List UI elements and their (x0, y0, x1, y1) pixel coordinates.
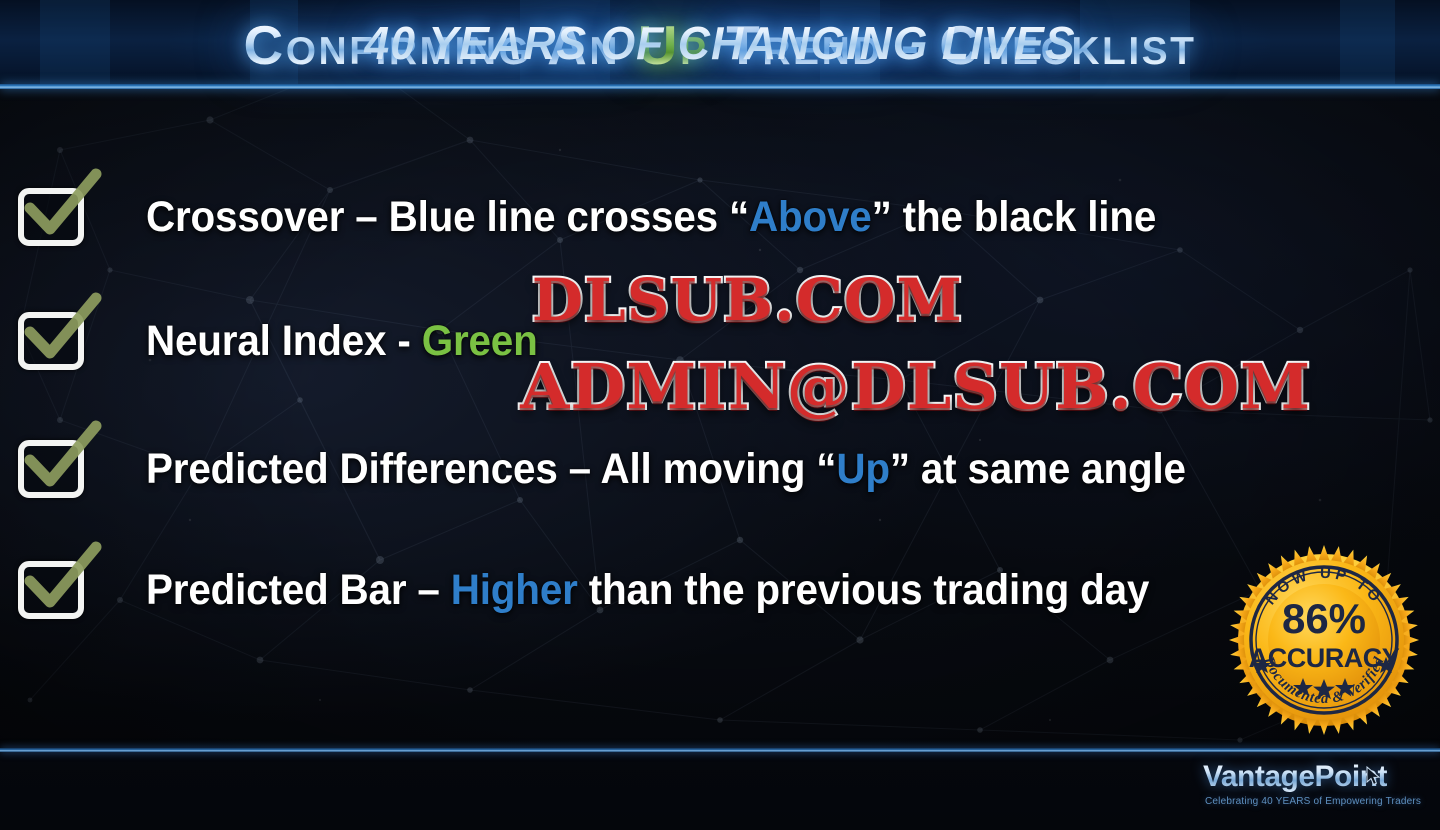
accuracy-seal-badge: NOW UP TO 86% ACCURACY Documented & Veri… (1229, 545, 1419, 735)
checkbox-4[interactable] (18, 561, 84, 619)
slide-canvas: Confirming An Up Trend - Checklist Cross… (0, 0, 1440, 830)
logo-name: VantagePoint (1203, 760, 1387, 794)
row-3-seg-3: ” at same angle (890, 445, 1186, 493)
watermark-line-1: DLSUB.COM (532, 266, 963, 334)
row-3-seg-1: Predicted Differences – All moving “ (146, 445, 836, 493)
row-4-seg-3: than the previous trading day (578, 566, 1150, 614)
checkmark-icon (20, 172, 106, 250)
checkmark-icon (20, 545, 106, 623)
row-2-seg-1: Neural Index - (146, 317, 422, 365)
row-1-seg-1: Crossover – Blue line crosses “ (146, 193, 749, 241)
row-1-seg-3: ” the black line (872, 193, 1157, 241)
vantagepoint-logo: VantagePoint Celebrating 40 YEARS of Emp… (1203, 760, 1431, 816)
checkbox-2[interactable] (18, 312, 84, 370)
mouse-pointer-icon (1366, 766, 1382, 786)
row-1-seg-2-above: Above (749, 193, 872, 241)
checklist-row-3-text: Predicted Differences – All moving “Up” … (146, 445, 1186, 494)
checkmark-icon (20, 296, 106, 374)
footer-divider (0, 748, 1440, 752)
badge-value: 86% (1282, 595, 1366, 642)
row-4-seg-1: Predicted Bar – (146, 566, 451, 614)
row-4-seg-2-higher: Higher (451, 566, 578, 614)
checkbox-3[interactable] (18, 440, 84, 498)
checklist-row-3[interactable]: Predicted Differences – All moving “Up” … (0, 433, 1440, 505)
checklist-row-4-text: Predicted Bar – Higher than the previous… (146, 566, 1149, 615)
logo-tagline: Celebrating 40 YEARS of Empowering Trade… (1205, 796, 1421, 807)
checklist-row-1-text: Crossover – Blue line crosses “Above” th… (146, 193, 1156, 242)
footer-tagline: 40 YEARS OF CHANGING LIVES (22, 16, 1419, 70)
checklist-row-2-text: Neural Index - Green (146, 317, 538, 366)
checkbox-1[interactable] (18, 188, 84, 246)
checklist-row-4[interactable]: Predicted Bar – Higher than the previous… (0, 554, 1440, 626)
row-3-seg-2-up: Up (836, 445, 890, 493)
checklist-row-1[interactable]: Crossover – Blue line crosses “Above” th… (0, 181, 1440, 253)
checkmark-icon (20, 424, 106, 502)
watermark-line-2: ADMIN@DLSUB.COM (520, 350, 1311, 423)
